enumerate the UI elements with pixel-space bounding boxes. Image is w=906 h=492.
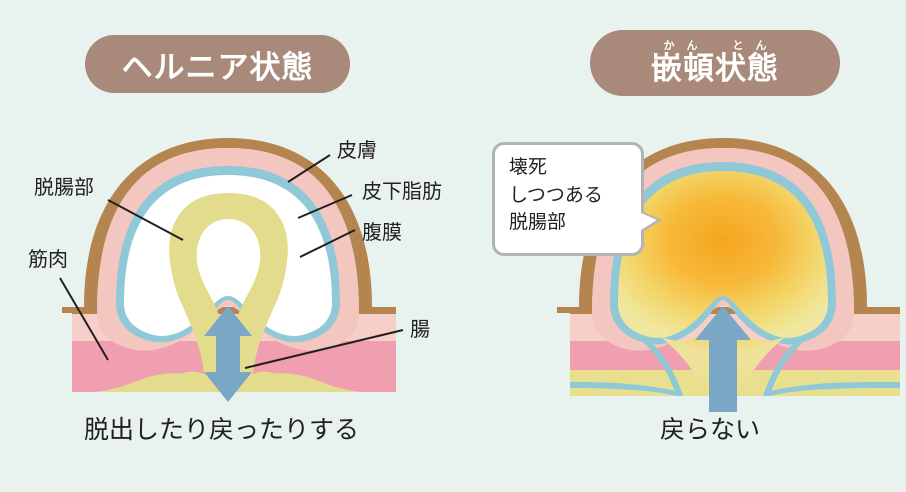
label-datsuchoubu: 脱腸部 [34,178,94,198]
label-chou: 腸 [410,320,430,340]
speech-bubble-necrosis: 壊死 しつつある 脱腸部 [492,142,644,256]
left-panel-anatomy [62,138,396,402]
label-fukumaku: 腹膜 [362,223,402,243]
label-hifu: 皮膚 [337,141,377,161]
bubble-tail-fill [641,213,657,230]
label-hikashibou: 皮下脂肪 [362,182,442,202]
illustration-canvas: ヘルニア状態 かん とん 嵌頓状態 脱腸部 筋肉 皮膚 皮下脂肪 腹膜 腸 壊死… [0,0,906,492]
panel-title-hernia-text: ヘルニア状態 [122,42,314,87]
panel-title-incarceration-text: 嵌頓状態 [651,53,779,86]
bubble-line-1: 壊死 [509,154,641,182]
bubble-line-3: 脱腸部 [509,209,641,237]
bubble-line-2: しつつある [509,182,641,210]
caption-incarceration: 戻らない [660,418,760,443]
label-kinniku: 筋肉 [28,250,68,270]
panel-title-hernia: ヘルニア状態 [85,35,350,93]
panel-title-incarceration: かん とん 嵌頓状態 [590,30,840,96]
caption-hernia: 脱出したり戻ったりする [84,418,359,443]
